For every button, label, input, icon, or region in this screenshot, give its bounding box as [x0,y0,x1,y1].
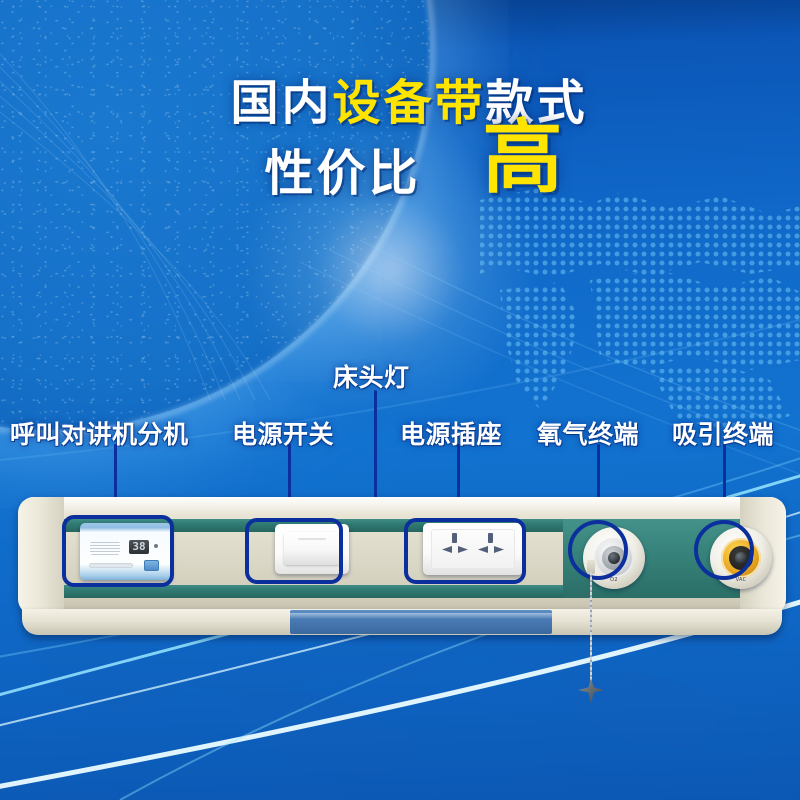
headline-line-2: 性价比 高 [0,148,800,212]
oxygen-terminal-marking: O2 [610,577,618,583]
panel-top-highlight [18,497,786,515]
suction-terminal-marking: VAC [736,577,747,583]
callout-label-power-switch: 电源开关 [232,415,334,451]
highlight-circle-oxygen [568,520,628,580]
panel-rail-blue-section [290,610,552,634]
headline-line2-left: 性价比 [264,148,420,199]
headline-block: 国内设备带款式 性价比 高 [0,78,800,212]
panel-endcap-left [18,497,64,615]
callout-label-intercom: 呼叫对讲机分机 [10,415,189,451]
headline-line-1: 国内设备带款式 [0,78,800,130]
highlight-box-intercom [62,515,174,587]
callout-label-power-socket: 电源插座 [400,415,502,451]
headline-big-character: 高 [483,126,566,190]
headline-line1-part1: 国内 [230,75,332,131]
poster-canvas: 国内设备带款式 性价比 高 呼叫对讲机分机 床头灯 电源开关 电源插座 氧气终端… [0,0,800,800]
headline-line1-highlight: 设备带 [332,75,485,131]
callout-label-bed-lamp: 床头灯 [333,358,410,394]
highlight-box-power-socket [404,518,526,584]
highlight-circle-suction [694,520,754,580]
pull-cord[interactable] [590,572,592,682]
callout-label-oxygen: 氧气终端 [537,415,639,451]
highlight-box-power-switch [245,518,343,584]
